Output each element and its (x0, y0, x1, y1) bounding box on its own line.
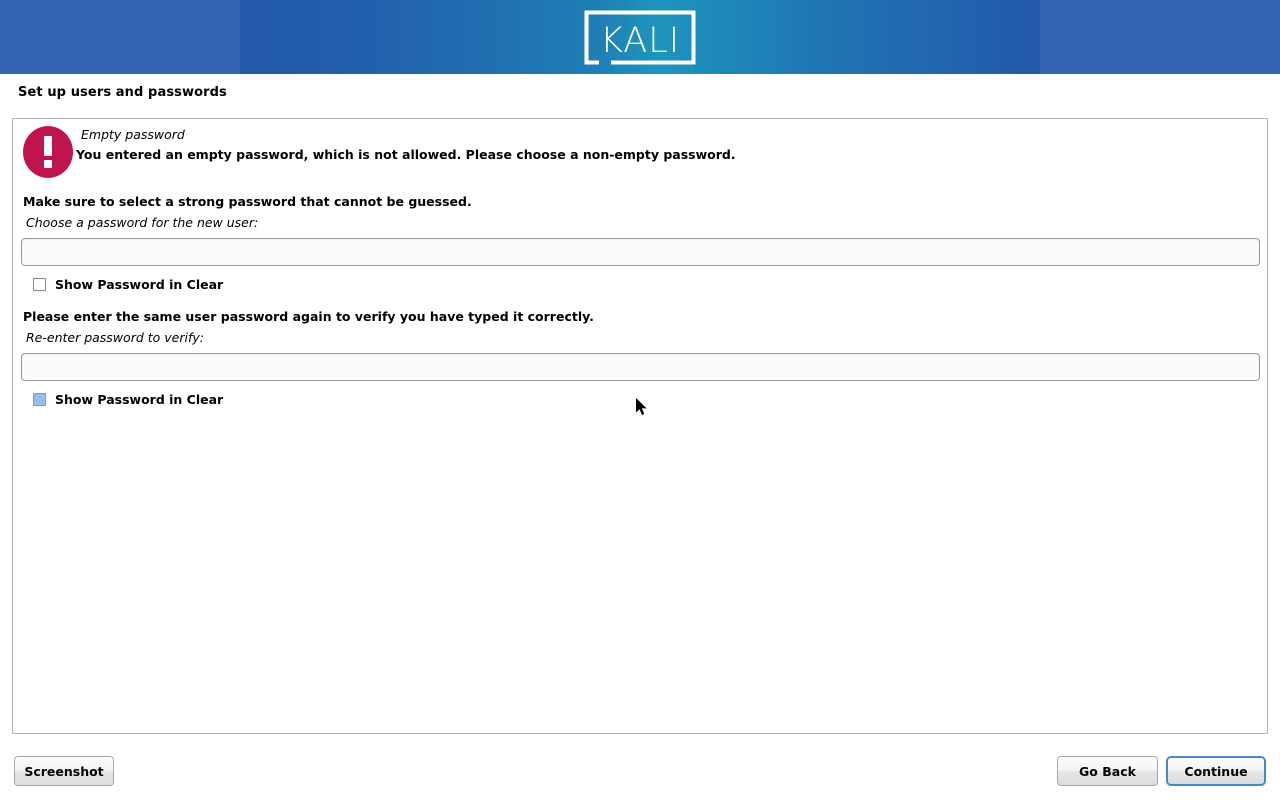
screenshot-button[interactable]: Screenshot (14, 756, 114, 786)
error-message-block: Empty password You entered an empty pass… (13, 119, 1267, 189)
show-password-1-label: Show Password in Clear (55, 278, 223, 291)
kali-logo-text: KALI (600, 21, 680, 61)
error-title: Empty password (81, 127, 185, 142)
kali-installer-window: KALI Set up users and passwords Empty pa… (0, 0, 1280, 800)
error-description: You entered an empty password, which is … (76, 147, 736, 162)
verify-password-hint: Please enter the same user password agai… (23, 309, 594, 324)
continue-button[interactable]: Continue (1166, 756, 1266, 786)
kali-banner: KALI (0, 0, 1280, 74)
strong-password-hint: Make sure to select a strong password th… (23, 194, 472, 209)
password-field-label: Choose a password for the new user: (26, 215, 258, 230)
page-title: Set up users and passwords (18, 85, 227, 100)
main-content-panel: Empty password You entered an empty pass… (12, 118, 1268, 734)
verify-field-label: Re-enter password to verify: (26, 330, 204, 345)
show-password-2-row[interactable]: Show Password in Clear (33, 391, 223, 407)
kali-logo: KALI (583, 9, 697, 66)
go-back-button[interactable]: Go Back (1057, 756, 1158, 786)
show-password-2-label: Show Password in Clear (55, 393, 223, 406)
error-exclamation-icon (23, 126, 73, 178)
password-input[interactable] (21, 238, 1260, 266)
verify-password-input[interactable] (21, 353, 1260, 381)
show-password-1-row[interactable]: Show Password in Clear (33, 276, 223, 292)
show-password-2-checkbox[interactable] (33, 393, 46, 406)
show-password-1-checkbox[interactable] (33, 278, 46, 291)
